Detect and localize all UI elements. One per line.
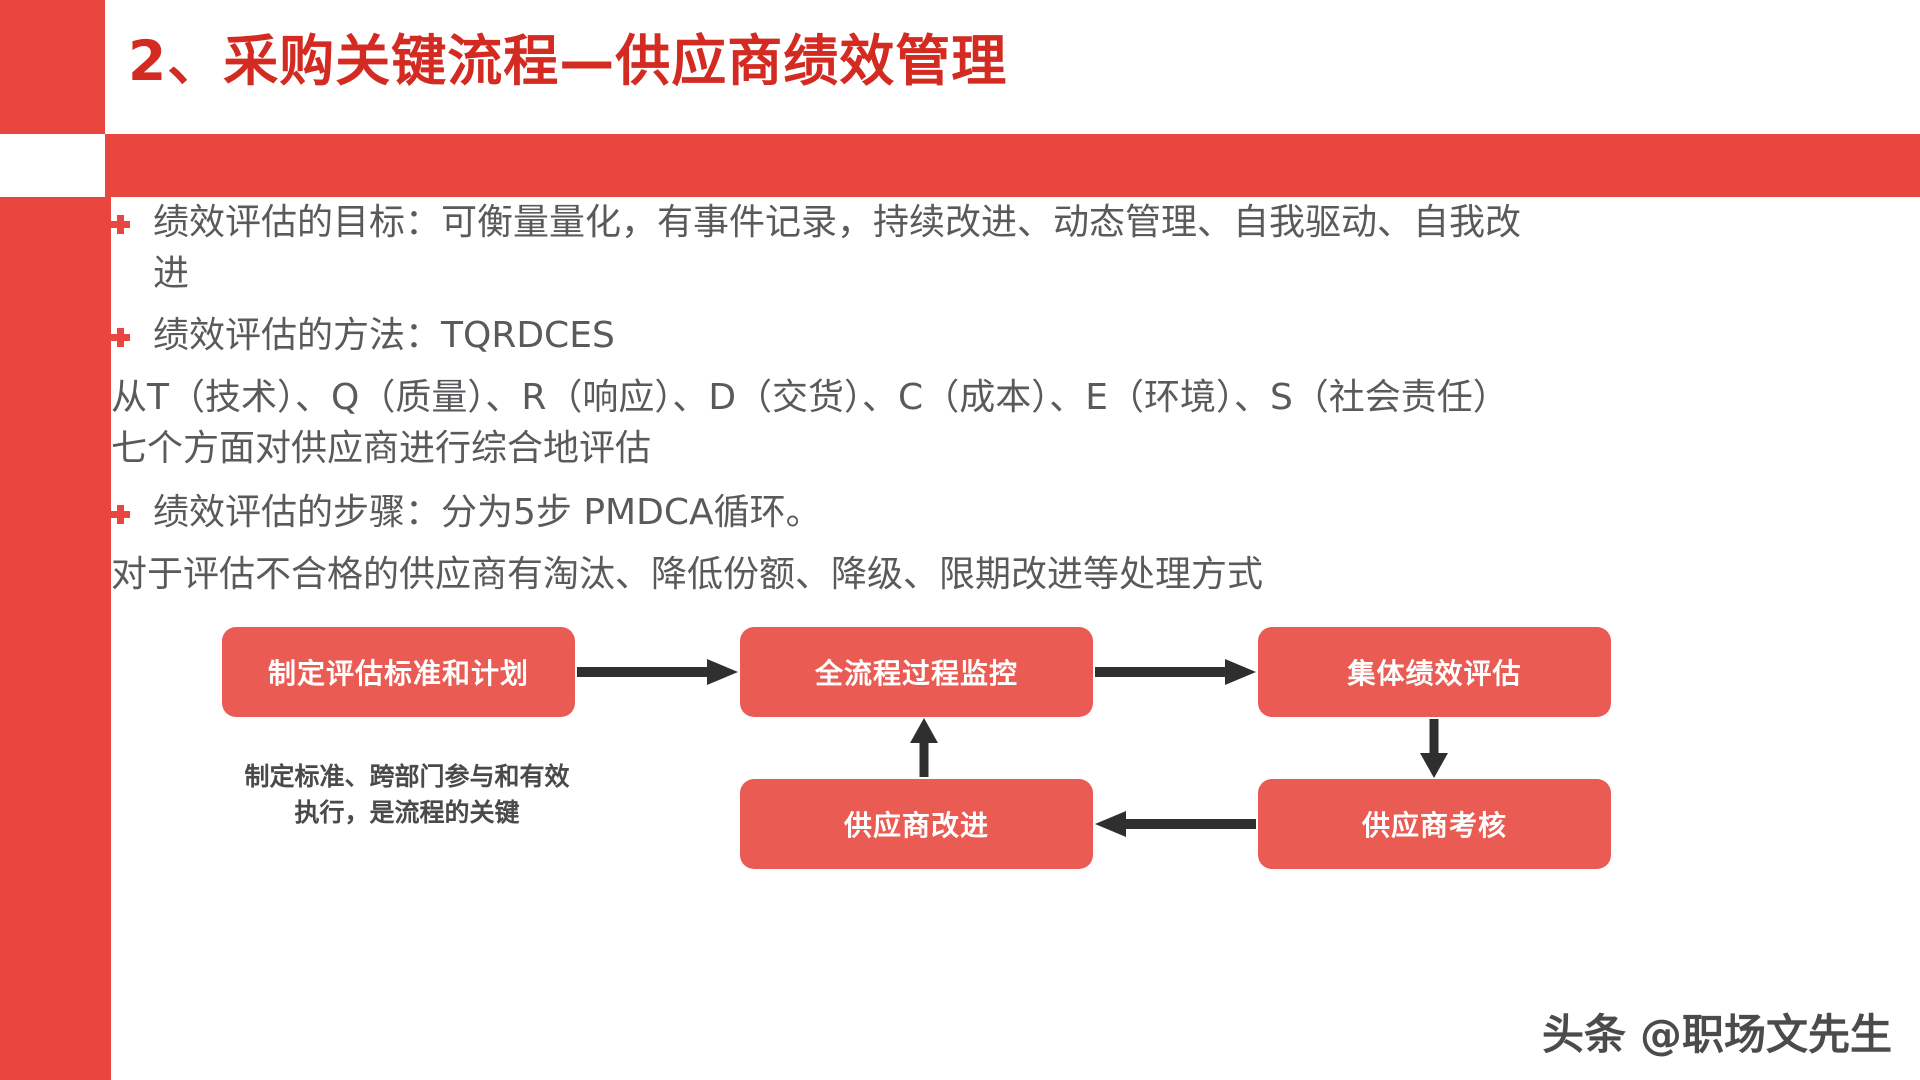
plus-bullet-icon: [111, 215, 129, 233]
body-paragraph-1-text: 绩效评估的目标：可衡量量化，有事件记录，持续改进、动态管理、自我驱动、自我改进: [153, 202, 1521, 294]
slide-canvas: 2、采购关键流程—供应商绩效管理 绩效评估的目标：可衡量量化，有事件记录，持续改…: [0, 0, 1920, 1080]
body-paragraph-3: 从T（技术）、Q（质量）、R（响应）、D（交货）、C（成本）、E（环境）、S（社…: [111, 372, 1531, 474]
watermark-handle: @职场文先生: [1640, 1001, 1892, 1062]
flow-node-process-monitoring[interactable]: 全流程过程监控: [740, 627, 1093, 717]
header-band: [105, 134, 1920, 197]
watermark-logo: 头条: [1542, 1001, 1626, 1062]
left-accent-bar-bottom: [0, 197, 105, 1080]
flow-node-define-criteria[interactable]: 制定评估标准和计划: [222, 627, 575, 717]
body-paragraph-1: 绩效评估的目标：可衡量量化，有事件记录，持续改进、动态管理、自我驱动、自我改进: [111, 197, 1553, 299]
body-paragraph-2-text: 绩效评估的方法：TQRDCES: [153, 315, 615, 356]
flow-node-supplier-assessment[interactable]: 供应商考核: [1258, 779, 1611, 869]
arrow-up-icon: [902, 717, 946, 779]
arrow-left-icon: [1093, 809, 1258, 839]
flow-node-collective-evaluation[interactable]: 集体绩效评估: [1258, 627, 1611, 717]
body-paragraph-4: 绩效评估的步骤：分为5步 PMDCA循环。: [111, 487, 1453, 538]
arrow-down-icon: [1412, 717, 1456, 779]
plus-bullet-icon: [111, 328, 129, 346]
watermark: 头条 @职场文先生: [1542, 1001, 1892, 1062]
body-paragraph-5: 对于评估不合格的供应商有淘汰、降低份额、降级、限期改进等处理方式: [111, 549, 1411, 600]
arrow-right-icon: [1093, 657, 1258, 687]
plus-bullet-icon: [111, 505, 129, 523]
body-paragraph-4-text: 绩效评估的步骤：分为5步 PMDCA循环。: [153, 492, 822, 533]
process-flow-diagram: 制定评估标准和计划 全流程过程监控 集体绩效评估 供应商考核 供应商改进: [222, 627, 1920, 887]
arrow-right-icon: [575, 657, 740, 687]
page-title: 2、采购关键流程—供应商绩效管理: [128, 16, 1007, 96]
body-content: 绩效评估的目标：可衡量量化，有事件记录，持续改进、动态管理、自我驱动、自我改进 …: [111, 197, 1920, 1080]
body-paragraph-2: 绩效评估的方法：TQRDCES: [111, 310, 1453, 361]
left-accent-bar-top: [0, 0, 105, 134]
flow-node-supplier-improvement[interactable]: 供应商改进: [740, 779, 1093, 869]
flow-caption: 制定标准、跨部门参与和有效执行，是流程的关键: [242, 759, 572, 831]
